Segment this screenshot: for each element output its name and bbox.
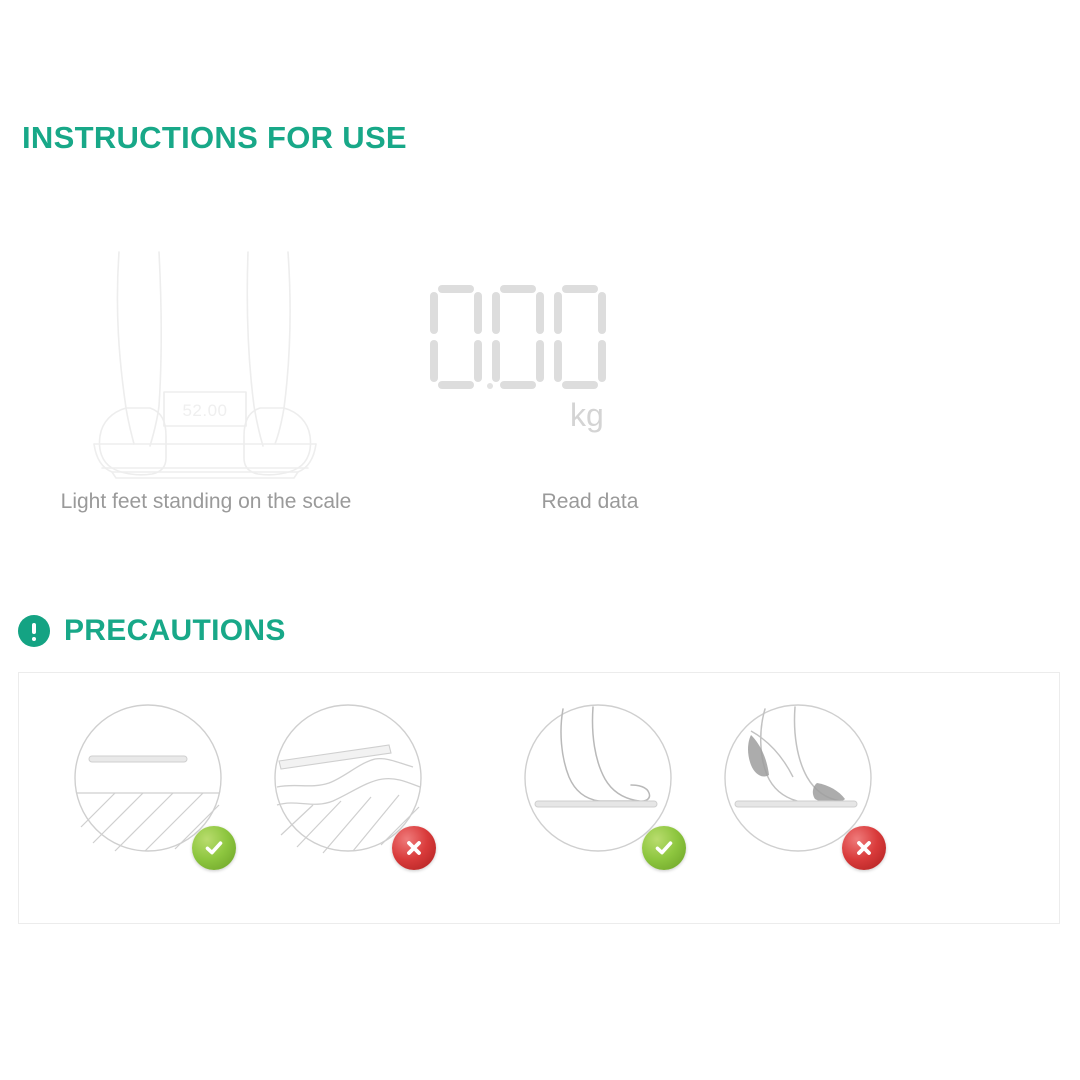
instruction-step-caption: Light feet standing on the scale bbox=[16, 490, 396, 514]
instruction-sheet-page: INSTRUCTIONS FOR USE bbox=[0, 0, 1080, 1080]
precaution-item-hard-flat-surface bbox=[71, 701, 246, 876]
lcd-digit-2 bbox=[554, 285, 606, 389]
cross-circle-icon bbox=[392, 826, 436, 870]
lcd-digit-1 bbox=[492, 285, 544, 389]
lcd-digit-0 bbox=[430, 285, 482, 389]
scale-readout-value: 52.00 bbox=[182, 401, 227, 420]
lcd-readout: kg bbox=[430, 285, 630, 390]
instruction-steps-row: 52.00 Light feet standing on the scale bbox=[0, 240, 1080, 540]
instruction-step-read-data: kg Read data bbox=[400, 240, 780, 540]
precautions-panel bbox=[18, 672, 1060, 924]
precautions-items bbox=[19, 673, 1059, 923]
precautions-heading: PRECAUTIONS bbox=[18, 614, 286, 648]
precautions-title: PRECAUTIONS bbox=[64, 614, 286, 648]
legs-standing-on-scale-illustration: 52.00 bbox=[16, 240, 396, 485]
precaution-item-soft-uneven-surface bbox=[271, 701, 446, 876]
precaution-item-sock-foot bbox=[721, 701, 896, 876]
cross-circle-icon bbox=[842, 826, 886, 870]
check-circle-icon bbox=[192, 826, 236, 870]
instruction-step-stand-on-scale: 52.00 Light feet standing on the scale bbox=[16, 240, 396, 540]
lcd-unit-label: kg bbox=[570, 397, 604, 434]
exclamation-circle-icon bbox=[18, 615, 50, 647]
lcd-seven-segment-display: kg bbox=[400, 240, 780, 485]
instructions-heading: INSTRUCTIONS FOR USE bbox=[22, 120, 407, 156]
instruction-step-caption: Read data bbox=[400, 490, 780, 514]
precaution-item-bare-foot bbox=[521, 701, 696, 876]
check-circle-icon bbox=[642, 826, 686, 870]
lcd-decimal-point bbox=[487, 383, 493, 389]
